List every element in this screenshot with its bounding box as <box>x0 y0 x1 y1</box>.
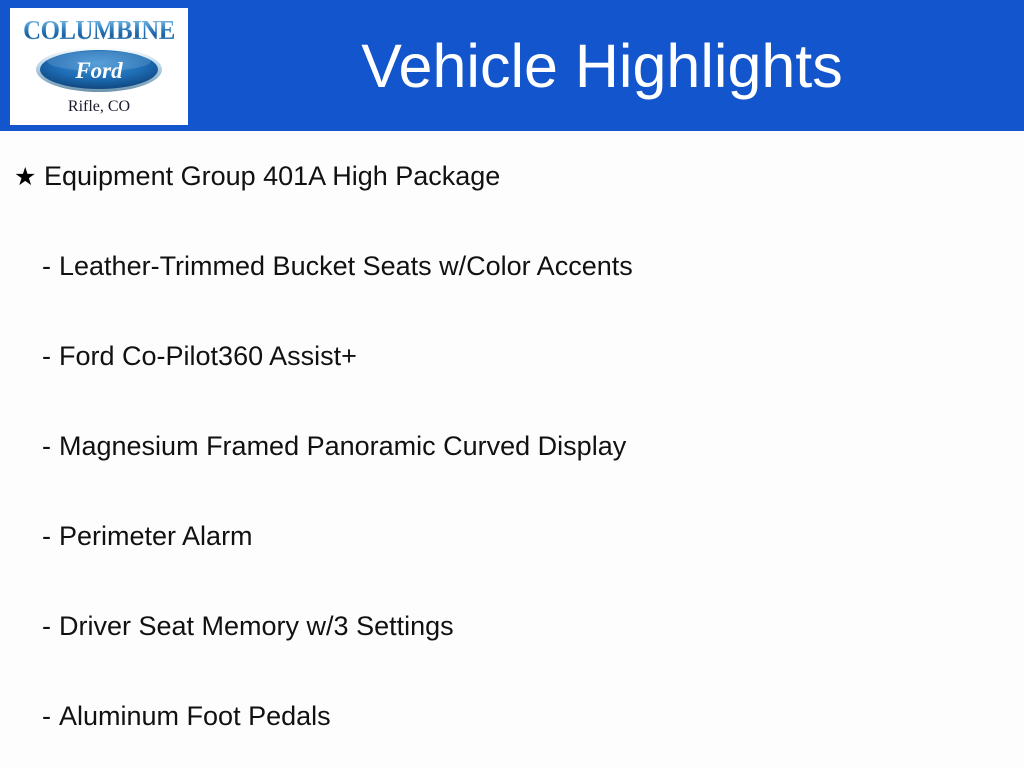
star-bullet-icon: ★ <box>14 165 44 190</box>
list-item: - Aluminum Foot Pedals <box>42 703 331 730</box>
dealer-location: Rifle, CO <box>10 99 188 115</box>
ford-oval-icon: Ford <box>35 46 163 93</box>
list-item-label: Leather-Trimmed Bucket Seats w/Color Acc… <box>59 253 633 280</box>
dash-bullet-icon: - <box>42 343 59 370</box>
highlights-list: ★ Equipment Group 401A High Package - Le… <box>0 131 1024 768</box>
dash-bullet-icon: - <box>42 253 59 280</box>
header-bar: COLUMBINE <box>0 0 1024 131</box>
list-item-label: Aluminum Foot Pedals <box>59 703 331 730</box>
list-item: - Ford Co-Pilot360 Assist+ <box>42 343 357 370</box>
dash-bullet-icon: - <box>42 703 59 730</box>
list-item-label: Magnesium Framed Panoramic Curved Displa… <box>59 433 626 460</box>
list-item: - Driver Seat Memory w/3 Settings <box>42 613 454 640</box>
dealer-logo-inner: COLUMBINE <box>10 8 188 125</box>
list-item-label: Perimeter Alarm <box>59 523 253 550</box>
dealer-brand-name: COLUMBINE <box>17 17 181 44</box>
list-item-label: Equipment Group 401A High Package <box>44 163 500 190</box>
dash-bullet-icon: - <box>42 433 59 460</box>
list-item-label: Driver Seat Memory w/3 Settings <box>59 613 454 640</box>
list-item: - Leather-Trimmed Bucket Seats w/Color A… <box>42 253 633 280</box>
list-item: ★ Equipment Group 401A High Package <box>14 163 500 190</box>
list-item: - Perimeter Alarm <box>42 523 253 550</box>
dash-bullet-icon: - <box>42 523 59 550</box>
svg-text:Ford: Ford <box>74 58 123 83</box>
list-item: - Magnesium Framed Panoramic Curved Disp… <box>42 433 626 460</box>
list-item-label: Ford Co-Pilot360 Assist+ <box>59 343 357 370</box>
dash-bullet-icon: - <box>42 613 59 640</box>
dealer-logo[interactable]: COLUMBINE <box>10 8 188 125</box>
page-title: Vehicle Highlights <box>188 0 1024 131</box>
